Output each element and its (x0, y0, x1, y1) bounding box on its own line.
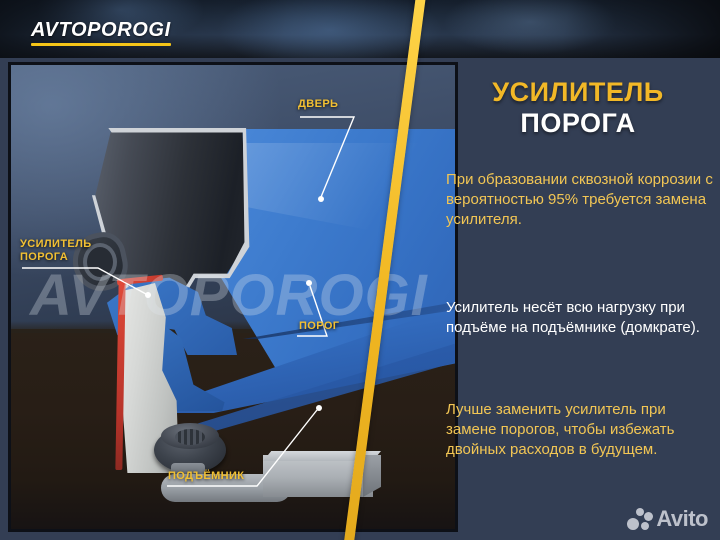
callout-reinforcement-label-line1: УСИЛИТЕЛЬ (20, 238, 180, 251)
callout-lift-label: ПОДЪЁМНИК (168, 470, 244, 483)
callout-door-label: ДВЕРЬ (298, 98, 368, 111)
page-title-line1: УСИЛИТЕЛЬ (442, 78, 714, 106)
avito-wordmark: Avito (656, 506, 708, 532)
avito-dot-2 (636, 508, 644, 516)
callout-sill-label: ПОРОГ (299, 320, 339, 333)
paragraph-load: Усилитель несёт всю нагрузку при подъёме… (446, 298, 714, 338)
text-panel: УСИЛИТЕЛЬ ПОРОГА При образовании сквозно… (432, 0, 720, 540)
page-title: УСИЛИТЕЛЬ ПОРОГА (442, 78, 714, 139)
brand-logo-text: AVTOPOROGI (31, 20, 171, 40)
avito-logo: Avito (627, 506, 708, 532)
paragraph-advice: Лучше заменить усилитель при замене поро… (446, 400, 714, 459)
page-title-line2: ПОРОГА (442, 108, 714, 139)
avito-dots-icon (627, 508, 653, 530)
avito-dot-1 (627, 518, 639, 530)
callout-reinforcement: УСИЛИТЕЛЬ ПОРОГА (20, 238, 180, 323)
avito-dot-3 (644, 512, 653, 521)
avito-dot-4 (641, 522, 649, 530)
paragraph-corrosion: При образовании сквозной коррозии с веро… (446, 170, 714, 229)
callout-door: ДВЕРЬ (298, 98, 368, 211)
callout-reinforcement-label-line2: ПОРОГА (20, 251, 180, 264)
brand-logo-underline (31, 43, 171, 46)
brand-logo: AVTOPOROGI (31, 20, 171, 46)
callout-reinforcement-leader (20, 263, 180, 323)
callout-door-leader (298, 111, 368, 211)
poster-canvas: AVTOPOROGI AVTOPOROGI ДВЕРЬ (0, 0, 720, 540)
